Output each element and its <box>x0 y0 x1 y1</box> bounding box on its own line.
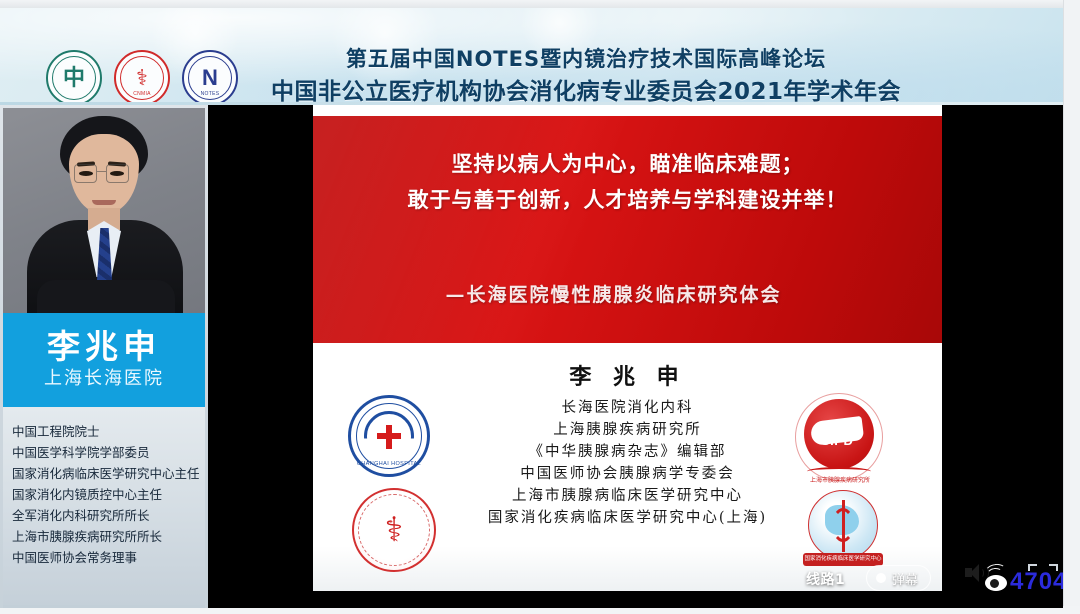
speaker-organization: 上海长海医院 <box>44 366 164 392</box>
danmaku-toggle-button[interactable]: 弹幕 <box>866 565 931 591</box>
list-item: 中国医学科学院学部委员 <box>12 442 199 463</box>
video-pillarbox-right <box>942 105 1063 608</box>
speaker-name: 李兆申 <box>47 328 161 366</box>
cnmia-logo: ⚕ CNMIA <box>114 50 170 105</box>
video-pillarbox-left <box>208 105 313 608</box>
notes-forum-logo: N NOTES <box>182 50 238 105</box>
slide-attribution: —长海医院慢性胰腺炎临床研究体会 <box>313 280 942 307</box>
danmaku-toggle-knob[interactable] <box>876 573 886 583</box>
fullscreen-icon[interactable] <box>1028 564 1058 582</box>
list-item: 中国工程院院士 <box>12 421 199 442</box>
nccr-ribbon-text: 国家消化疾病临床医学研究中心 <box>803 553 883 566</box>
national-clinical-research-center-logo: 国家消化疾病临床医学研究中心 <box>800 486 886 574</box>
livestream-screenshot: 中 ⚕ CNMIA N NOTES 第五届中国NOTES暨内镜治疗技术国际高峰论… <box>0 0 1080 614</box>
logo-glyph: ⚕ <box>136 67 148 89</box>
speaker-titles-list: 中国工程院院士 中国医学科学院学部委员 国家消化病临床医学研究中心主任 国家消化… <box>3 407 205 605</box>
green-medical-association-logo: 中 <box>46 50 102 105</box>
volume-icon[interactable] <box>965 564 985 582</box>
list-item: 全军消化内科研究所所长 <box>12 505 199 526</box>
slide-headline-line1: 坚持以病人为中心，瞄准临床难题； <box>313 146 942 182</box>
pancreatology-committee-logo: ⚕ <box>352 488 436 572</box>
logo-caption: NOTES <box>201 91 220 97</box>
window-frame-right <box>1063 0 1080 614</box>
sipd-logo: SIPD 上海市胰腺疾病研究所 <box>795 393 885 483</box>
banner-title-line2: 中国非公立医疗机构协会消化病专业委员会2021年学术年会 <box>236 77 936 105</box>
sipd-abbreviation: SIPD <box>821 433 853 448</box>
logo-caption: CNMIA <box>133 91 151 97</box>
list-item: 国家消化病临床医学研究中心主任 <box>12 463 199 484</box>
danmaku-label: 弹幕 <box>892 569 918 588</box>
sipd-chinese-name: 上海市胰腺疾病研究所 <box>795 475 885 484</box>
speaker-panel-filler <box>3 605 205 608</box>
list-item: 中国医师协会常务理事 <box>12 547 199 568</box>
banner-title-line1: 第五届中国NOTES暨内镜治疗技术国际高峰论坛 <box>236 46 936 72</box>
viewer-count-eye-icon <box>985 575 1007 591</box>
video-letterbox-bottom <box>208 591 1063 608</box>
logo-glyph: 中 <box>63 67 85 89</box>
speaker-portrait-photo <box>3 108 205 313</box>
conference-banner: 中 ⚕ CNMIA N NOTES 第五届中国NOTES暨内镜治疗技术国际高峰论… <box>0 8 1063 105</box>
list-item: 国家消化内镜质控中心主任 <box>12 484 199 505</box>
speaker-name-card: 李兆申 上海长海医院 <box>3 313 205 407</box>
changhai-hospital-logo: CHANGHAI HOSPITAL <box>348 395 430 477</box>
banner-title-block: 第五届中国NOTES暨内镜治疗技术国际高峰论坛 中国非公立医疗机构协会消化病专业… <box>236 46 936 105</box>
slide-red-header: 坚持以病人为中心，瞄准临床难题； 敢于与善于创新，人才培养与学科建设并举！ —长… <box>313 116 942 343</box>
slide-headline-line2: 敢于与善于创新，人才培养与学科建设并举！ <box>313 182 942 218</box>
speaker-panel: 李兆申 上海长海医院 中国工程院院士 中国医学科学院学部委员 国家消化病临床医学… <box>0 105 208 608</box>
logo-glyph: N <box>202 67 218 89</box>
banner-logo-group: 中 ⚕ CNMIA N NOTES <box>46 50 238 105</box>
slide-author-name: 李 兆 申 <box>313 359 942 391</box>
route-selector-label[interactable]: 线路1 <box>806 569 845 589</box>
list-item: 上海市胰腺疾病研究所所长 <box>12 526 199 547</box>
slide-headline: 坚持以病人为中心，瞄准临床难题； 敢于与善于创新，人才培养与学科建设并举！ <box>313 146 942 218</box>
window-frame-top <box>0 0 1080 8</box>
changhai-logo-text: CHANGHAI HOSPITAL <box>351 461 427 467</box>
live-video-player[interactable]: 中 ⚕ CNMIA N NOTES 第五届中国NOTES暨内镜治疗技术国际高峰论… <box>0 8 1063 608</box>
